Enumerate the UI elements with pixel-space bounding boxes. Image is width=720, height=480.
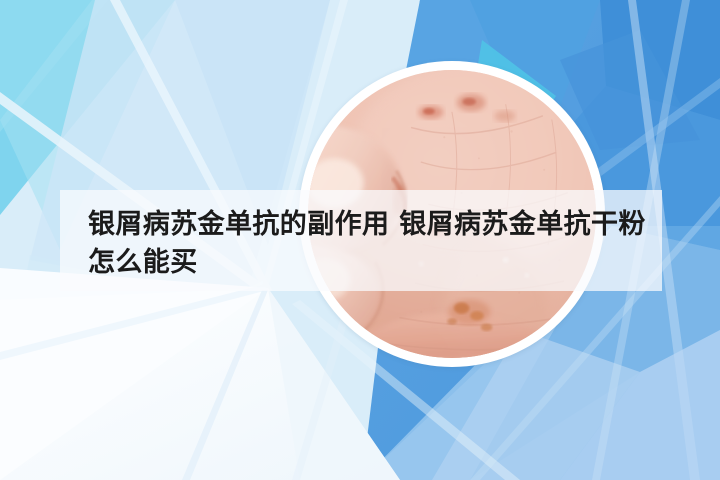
poster-canvas: 银屑病苏金单抗的副作用 银屑病苏金单抗干粉怎么能买	[0, 0, 720, 480]
caption-title: 银屑病苏金单抗的副作用 银屑病苏金单抗干粉怎么能买	[88, 206, 648, 282]
